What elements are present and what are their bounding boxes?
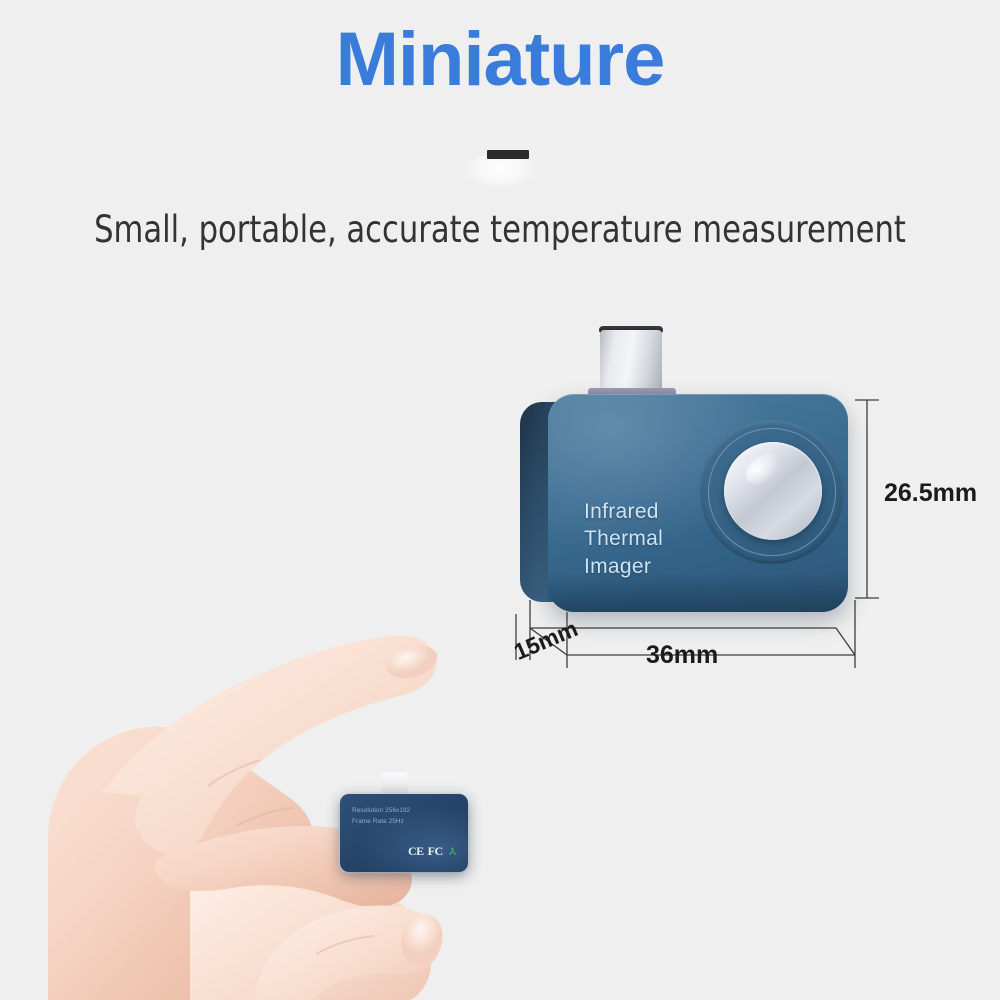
brand-line-infrared: Infrared xyxy=(584,498,663,525)
hand-holding-product: Resolution 256x192 Frame Rate 25Hz CE FC xyxy=(40,540,520,1000)
mini-device-specs: Resolution 256x192 Frame Rate 25Hz xyxy=(352,806,410,827)
usb-c-connector-icon xyxy=(600,330,662,392)
page-title: Miniature xyxy=(0,22,1000,98)
product-marketing-page: Miniature Small, portable, accurate temp… xyxy=(0,0,1000,1000)
divider-glow xyxy=(465,154,535,188)
brand-line-thermal: Thermal xyxy=(584,525,663,552)
fcc-mark-icon: FC xyxy=(428,844,443,859)
divider xyxy=(465,144,535,188)
recycle-icon xyxy=(447,846,458,857)
spec-resolution: Resolution 256x192 xyxy=(352,806,410,817)
horizontal-bar-divider-icon xyxy=(487,150,529,159)
device-brand-text: Infrared Thermal Imager xyxy=(584,498,663,580)
dimension-height-label: 26.5mm xyxy=(884,479,977,508)
page-subtitle: Small, portable, accurate temperature me… xyxy=(40,208,960,251)
spec-frame-rate: Frame Rate 25Hz xyxy=(352,817,410,828)
ce-mark-icon: CE xyxy=(408,844,424,859)
mini-usb-c-connector-icon xyxy=(382,772,408,796)
dimension-width-label: 36mm xyxy=(646,641,718,670)
brand-line-imager: Imager xyxy=(584,553,663,580)
hand-pinching-icon xyxy=(40,540,520,1000)
certification-marks: CE FC xyxy=(408,844,458,859)
